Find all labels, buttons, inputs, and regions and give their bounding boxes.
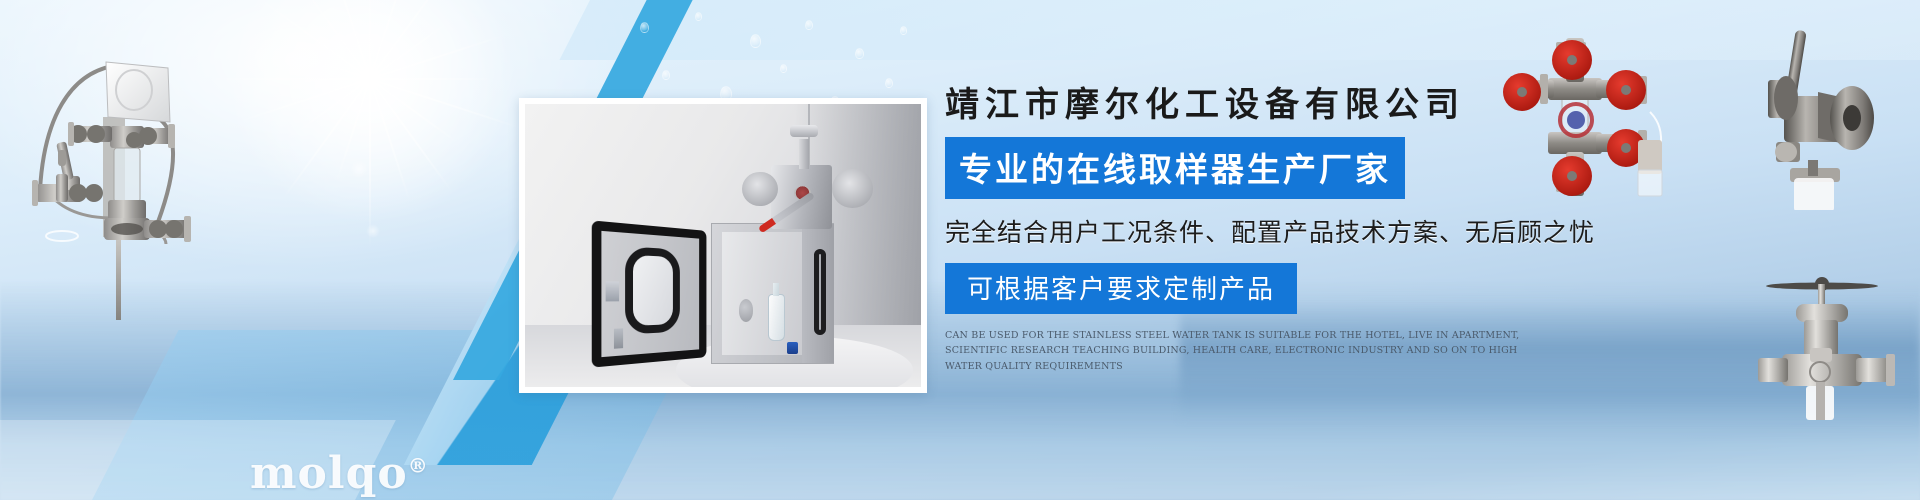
water-droplet — [855, 48, 864, 59]
company-name: 靖江市摩尔化工设备有限公司 — [945, 86, 1705, 125]
sun-burst-icon — [180, 0, 560, 260]
sun-ray — [275, 47, 371, 80]
sampling-valve-assembly — [747, 127, 866, 229]
customization-cta[interactable]: 可根据客户要求定制产品 — [945, 263, 1297, 314]
product-photo — [525, 104, 921, 387]
valve-knob — [790, 125, 819, 137]
sun-ray — [369, 78, 459, 144]
water-droplet — [805, 20, 813, 30]
sun-ray — [281, 78, 371, 201]
blue-bottle-cap — [787, 342, 798, 353]
door-latch — [606, 281, 619, 301]
banner-text-block: 靖江市摩尔化工设备有限公司 专业的在线取样器生产厂家 完全结合用户工况条件、配置… — [945, 86, 1705, 374]
sun-ray — [237, 78, 371, 123]
door-window — [625, 246, 679, 334]
valve-flange-right — [832, 169, 872, 208]
left-product-render — [8, 22, 208, 322]
lens-flare-dot — [366, 224, 380, 238]
water-droplet — [780, 64, 787, 73]
water-droplet — [900, 26, 907, 35]
cabinet-handle — [814, 249, 826, 335]
cabinet-inlet-flange — [739, 299, 753, 321]
cabinet-interior — [722, 232, 807, 355]
headline-badge: 专业的在线取样器生产厂家 — [945, 137, 1405, 199]
valve-flange-left — [742, 172, 778, 207]
cabinet-door — [592, 220, 706, 367]
water-droplet — [662, 70, 670, 80]
water-droplet — [695, 12, 702, 21]
sampler-cabinet — [711, 223, 834, 365]
sun-ray — [370, 33, 509, 80]
sun-ray — [320, 0, 371, 79]
product-banner: 靖江市摩尔化工设备有限公司 专业的在线取样器生产厂家 完全结合用户工况条件、配置… — [0, 0, 1920, 500]
sun-ray — [252, 0, 370, 79]
lens-flare-dot — [350, 160, 368, 178]
water-droplet — [640, 22, 649, 33]
english-description: CAN BE USED FOR THE STAINLESS STEEL WATE… — [945, 328, 1555, 374]
door-key — [614, 328, 624, 348]
sun-ray — [370, 78, 495, 80]
sub-headline: 完全结合用户工况条件、配置产品技术方案、无后顾之忧 — [945, 213, 1705, 249]
sun-ray — [369, 78, 411, 202]
sun-ray — [369, 78, 453, 192]
water-droplet — [885, 78, 893, 88]
right-handwheel-valve-render — [1758, 262, 1920, 422]
sun-ray — [369, 0, 371, 79]
product-photo-card — [519, 98, 927, 393]
sun-ray — [370, 78, 523, 129]
water-droplet — [750, 34, 761, 48]
valve-stem — [799, 139, 809, 170]
right-lever-valve-render — [1768, 18, 1920, 210]
watermark-text: molqo — [250, 448, 408, 499]
sun-ray — [205, 78, 370, 80]
sun-ray — [369, 79, 371, 249]
brand-watermark: molqo® — [250, 448, 429, 499]
sun-ray — [369, 19, 451, 79]
sample-bottle — [768, 294, 785, 341]
registered-trademark-icon: ® — [408, 453, 429, 477]
